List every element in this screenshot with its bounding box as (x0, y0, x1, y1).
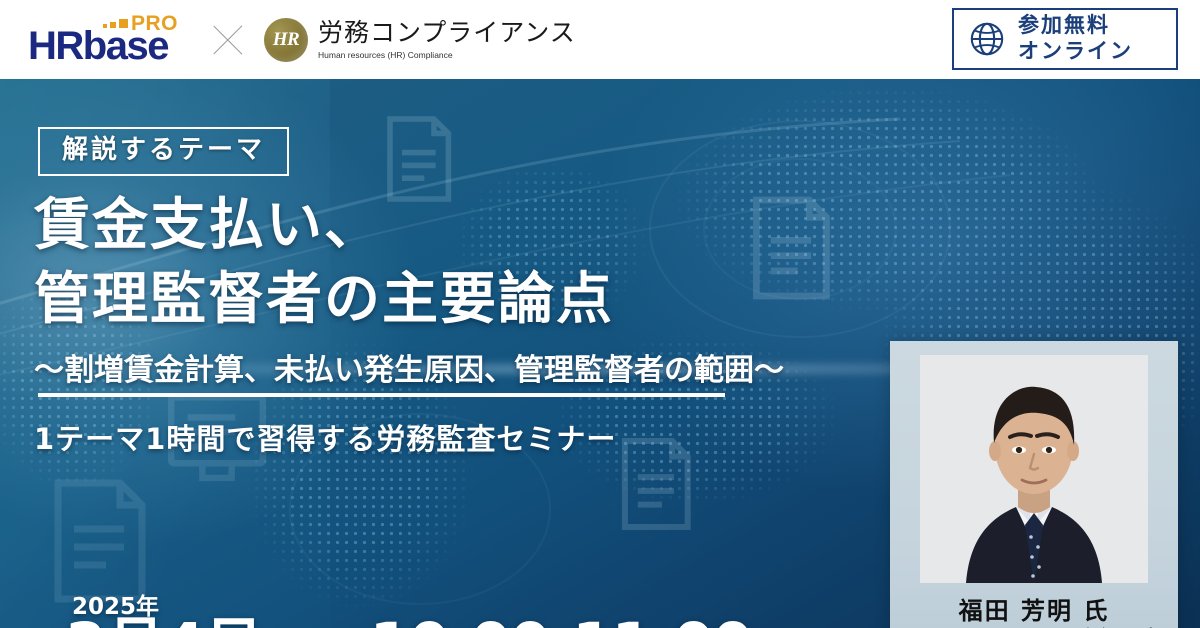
event-datetime: 2月4日 火曜日 10:00-11:00 (66, 615, 752, 628)
logo-row: PRO HRbase HR 労務コンプライアンス Human resources… (28, 0, 576, 79)
title-line-1: 賃金支払い、 (34, 198, 382, 254)
speaker-card: 福田 芳明 氏 みらいコンサルティンググループ 特定社会保険労務士 (890, 341, 1178, 628)
divider-line (38, 393, 725, 397)
badge-line-online: オンライン (1018, 39, 1133, 65)
hrbase-pro-logo: PRO HRbase (28, 12, 188, 68)
compliance-logo: HR 労務コンプライアンス Human resources (HR) Compl… (264, 18, 576, 62)
main-visual: 解説するテーマ 賃金支払い、 管理監督者の主要論点 〜割増賃金計算、未払い発生原… (0, 79, 1200, 628)
portrait-illustration (920, 355, 1148, 583)
hr-badge-icon: HR (264, 18, 308, 62)
compliance-title-jp: 労務コンプライアンス (318, 19, 576, 48)
webinar-banner: PRO HRbase HR 労務コンプライアンス Human resources… (0, 0, 1200, 628)
compliance-title-en: Human resources (HR) Compliance (318, 50, 576, 60)
title-line-2: 管理監督者の主要論点 (34, 272, 614, 328)
hrbase-wordmark: HRbase (28, 26, 168, 66)
cross-icon (200, 12, 256, 68)
speaker-portrait (920, 355, 1148, 583)
badge-line-free: 参加無料 (1018, 13, 1133, 39)
theme-label: 解説するテーマ (38, 127, 289, 176)
event-day: 2月4日 (66, 615, 263, 628)
content-column: 解説するテーマ 賃金支払い、 管理監督者の主要論点 〜割増賃金計算、未払い発生原… (0, 79, 900, 628)
globe-icon (968, 20, 1006, 58)
tagline: 1テーマ1時間で習得する労務監査セミナー (34, 416, 616, 458)
free-badge-text: 参加無料 オンライン (1018, 13, 1133, 64)
compliance-text-block: 労務コンプライアンス Human resources (HR) Complian… (318, 19, 576, 60)
free-online-badge: 参加無料 オンライン (952, 8, 1178, 70)
subtitle: 〜割増賃金計算、未払い発生原因、管理監督者の範囲〜 (34, 345, 784, 389)
event-time: 10:00-11:00 (370, 615, 752, 628)
header-bar: PRO HRbase HR 労務コンプライアンス Human resources… (0, 0, 1200, 79)
speaker-name: 福田 芳明 氏 (890, 591, 1178, 626)
